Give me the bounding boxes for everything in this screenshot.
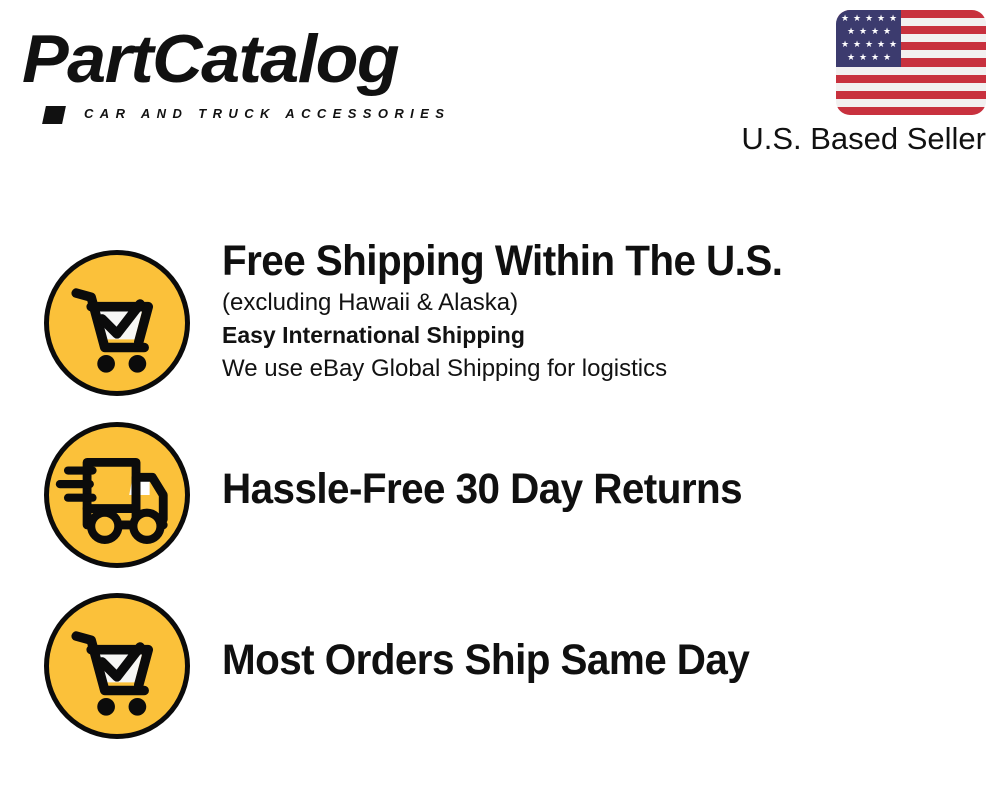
benefit-subline: We use eBay Global Shipping for logistic…: [222, 352, 988, 385]
benefits-list: Free Shipping Within The U.S. (excluding…: [0, 0, 1000, 800]
benefit-row-returns: Hassle-Free 30 Day Returns: [0, 422, 1000, 572]
benefit-text-returns: Hassle-Free 30 Day Returns: [222, 464, 988, 514]
delivery-truck-icon: [44, 422, 190, 568]
shopping-cart-check-icon: [44, 593, 190, 739]
benefit-headline: Hassle-Free 30 Day Returns: [222, 464, 942, 514]
benefit-text-same-day: Most Orders Ship Same Day: [222, 635, 988, 685]
benefit-headline: Free Shipping Within The U.S.: [222, 236, 942, 286]
shopping-cart-check-icon: [44, 250, 190, 396]
promo-banner: PartCatalog CAR AND TRUCK ACCESSORIES: [0, 0, 1000, 800]
benefit-row-same-day: Most Orders Ship Same Day: [0, 593, 1000, 743]
benefit-subline: (excluding Hawaii & Alaska): [222, 286, 988, 319]
benefit-text-free-shipping: Free Shipping Within The U.S. (excluding…: [222, 236, 988, 385]
benefit-subline: Easy International Shipping: [222, 319, 988, 352]
benefit-row-free-shipping: Free Shipping Within The U.S. (excluding…: [0, 236, 1000, 406]
benefit-headline: Most Orders Ship Same Day: [222, 635, 942, 685]
